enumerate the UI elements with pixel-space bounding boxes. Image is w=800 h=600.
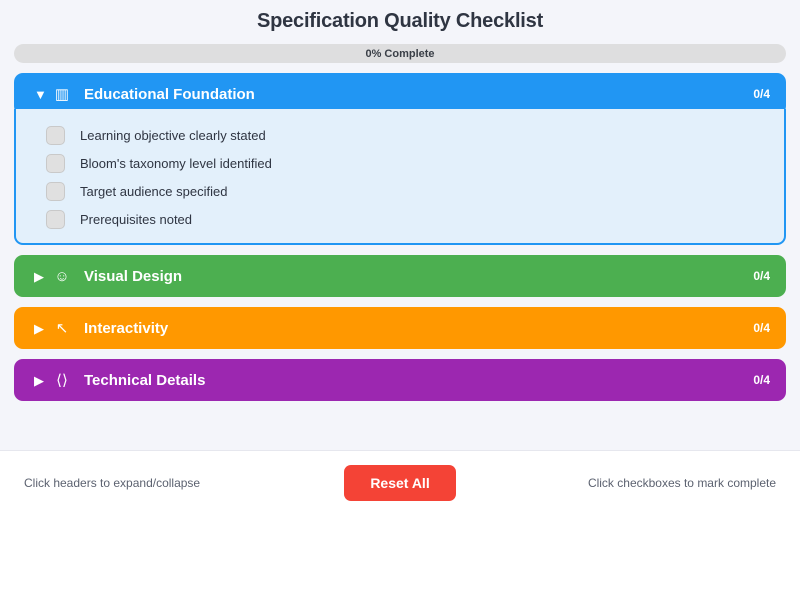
section-title: Technical Details [84,372,753,389]
palette-icon: ☺ [51,269,73,284]
checkbox-icon[interactable] [46,182,65,201]
checklist-item-label: Prerequisites noted [80,212,192,227]
section-title: Educational Foundation [84,86,753,103]
section-body-educational-foundation: Learning objective clearly statedBloom's… [14,109,786,245]
section-header-technical-details[interactable]: ▶⟨⟩Technical Details0/4 [14,359,786,401]
section-title: Interactivity [84,320,753,337]
section-header-visual-design[interactable]: ▶☺Visual Design0/4 [14,255,786,297]
caret-right-icon: ▶ [34,270,48,283]
code-brackets-icon: ⟨⟩ [51,373,73,388]
checklist-item[interactable]: Bloom's taxonomy level identified [16,149,784,177]
checklist-item-label: Target audience specified [80,184,227,199]
checkbox-icon[interactable] [46,210,65,229]
section-count-badge: 0/4 [753,321,770,335]
reset-all-button[interactable]: Reset All [344,465,455,501]
caret-right-icon: ▶ [34,322,48,335]
section-educational-foundation: ▼▥Educational Foundation0/4Learning obje… [14,73,786,245]
checklist-item[interactable]: Prerequisites noted [16,205,784,233]
section-technical-details: ▶⟨⟩Technical Details0/4 [14,359,786,401]
checkbox-icon[interactable] [46,126,65,145]
caret-down-icon: ▼ [34,88,48,101]
progress-bar: 0% Complete [14,44,786,63]
checklist-item[interactable]: Target audience specified [16,177,784,205]
caret-right-icon: ▶ [34,374,48,387]
section-visual-design: ▶☺Visual Design0/4 [14,255,786,297]
open-book-icon: ▥ [51,87,73,102]
footer-hint-left: Click headers to expand/collapse [24,465,344,501]
progress-label: 0% Complete [14,44,786,63]
footer: Click headers to expand/collapse Reset A… [0,450,800,600]
checklist-app: Specification Quality Checklist 0% Compl… [0,0,800,600]
section-count-badge: 0/4 [753,269,770,283]
checklist-item[interactable]: Learning objective clearly stated [16,121,784,149]
checklist-item-label: Bloom's taxonomy level identified [80,156,272,171]
checklist-item-label: Learning objective clearly stated [80,128,266,143]
section-header-interactivity[interactable]: ▶↖Interactivity0/4 [14,307,786,349]
section-title: Visual Design [84,268,753,285]
cursor-pointer-icon: ↖ [51,321,73,336]
section-count-badge: 0/4 [753,373,770,387]
section-interactivity: ▶↖Interactivity0/4 [14,307,786,349]
sections-container: ▼▥Educational Foundation0/4Learning obje… [14,73,786,401]
section-count-badge: 0/4 [753,87,770,101]
footer-hint-right: Click checkboxes to mark complete [456,465,776,501]
page-title: Specification Quality Checklist [14,0,786,44]
checklist-page: Specification Quality Checklist 0% Compl… [0,0,800,450]
checkbox-icon[interactable] [46,154,65,173]
